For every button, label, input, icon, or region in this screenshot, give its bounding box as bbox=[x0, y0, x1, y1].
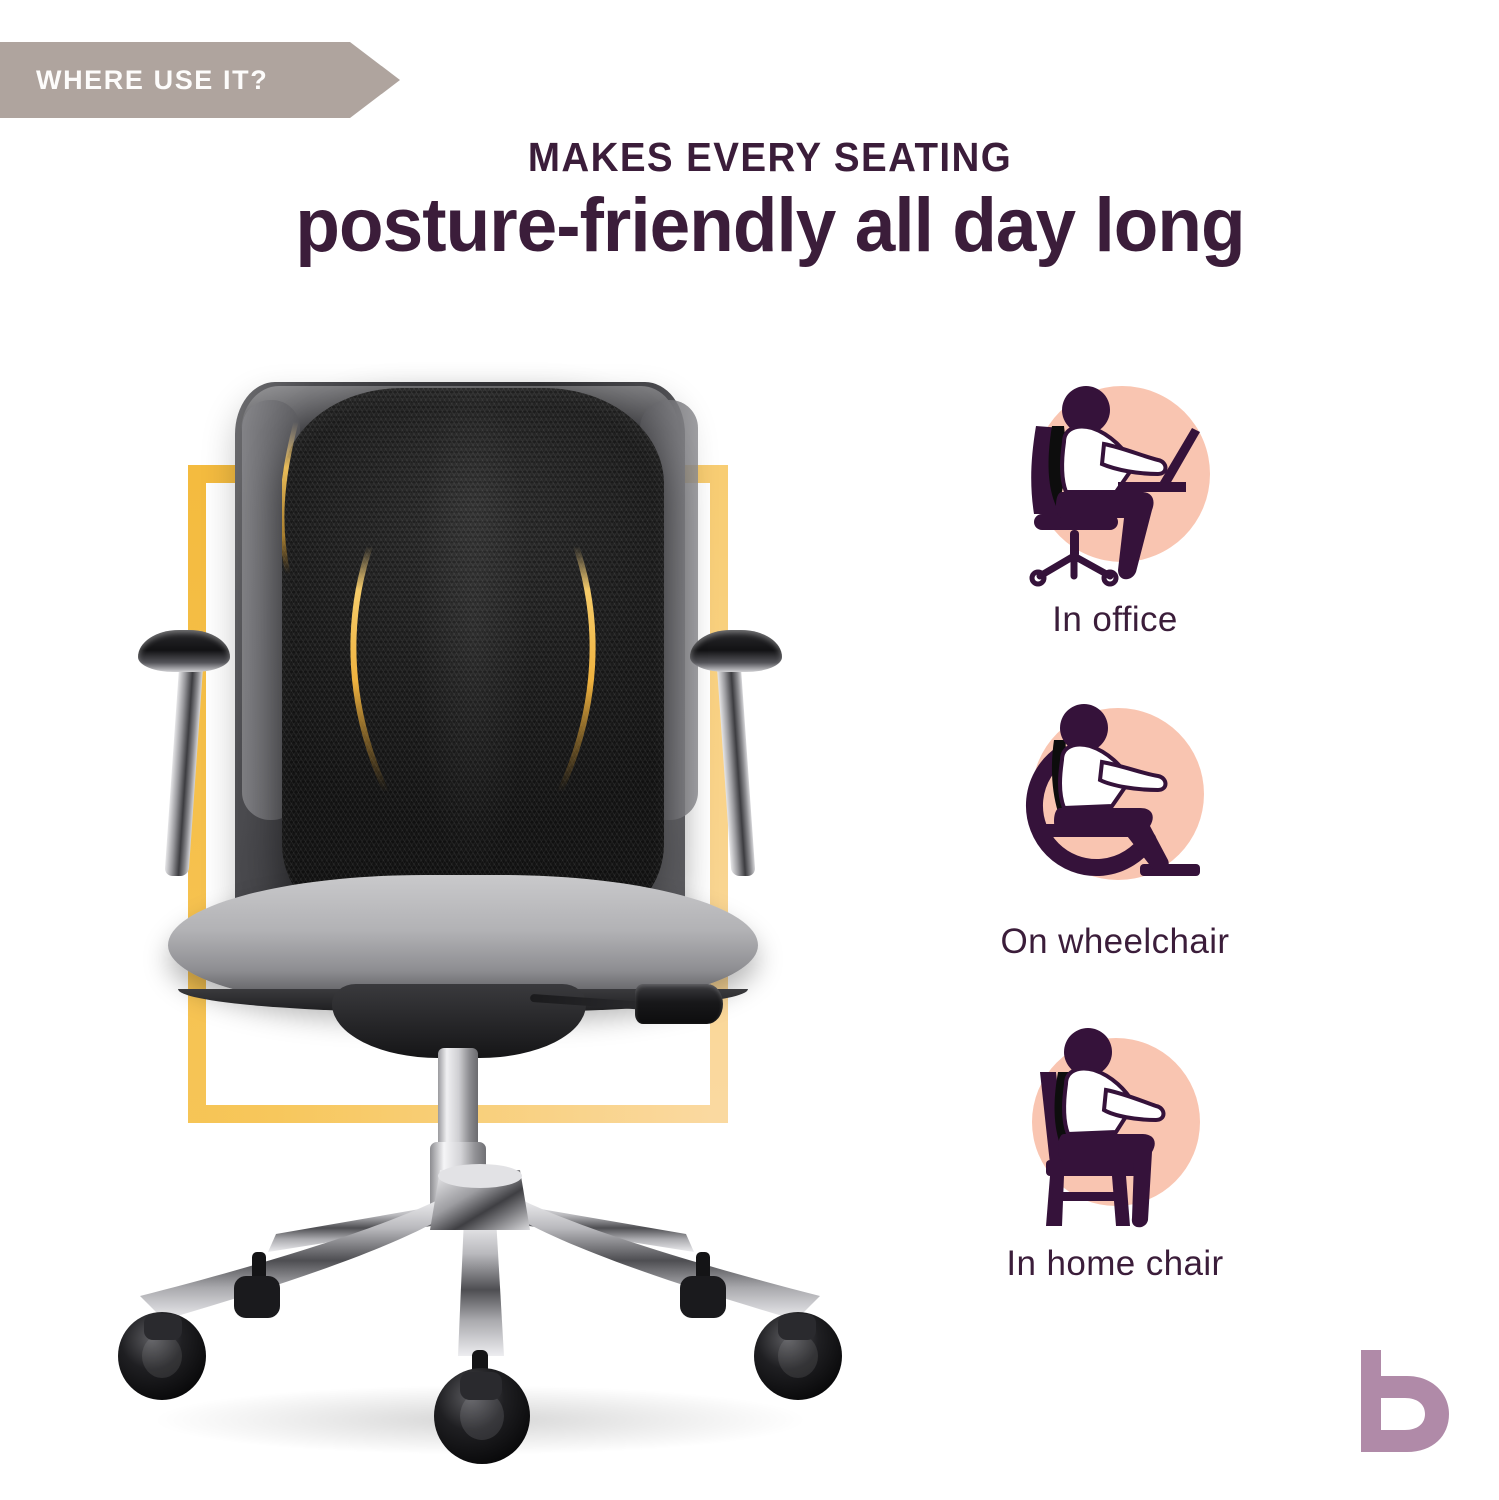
usecase-label-wheelchair: On wheelchair bbox=[1001, 922, 1230, 962]
product-image-stage bbox=[60, 330, 900, 1470]
ribbon-label: WHERE USE IT? bbox=[0, 65, 268, 96]
headline-kicker: MAKES EVERY SEATING bbox=[187, 136, 1353, 179]
usecase-item-office: In office bbox=[905, 370, 1325, 640]
armrest-post-left bbox=[164, 660, 203, 876]
armrest-post-right bbox=[716, 660, 755, 876]
armrest-pad-left bbox=[138, 630, 230, 672]
usecase-list: In office bbox=[905, 370, 1325, 1284]
usecase-item-wheelchair: On wheelchair bbox=[905, 692, 1325, 962]
office-chair-with-lumbar-cushion bbox=[60, 330, 900, 1470]
chair-five-star-base bbox=[100, 1160, 860, 1470]
armrest-pad-right bbox=[690, 630, 782, 672]
chair-armrest-right bbox=[716, 630, 756, 876]
person-at-desk-with-laptop-icon bbox=[1000, 370, 1230, 592]
person-on-dining-chair-icon bbox=[1000, 1014, 1230, 1236]
section-ribbon-tag: WHERE USE IT? bbox=[0, 42, 400, 118]
headline-main: posture-friendly all day long bbox=[175, 185, 1365, 267]
lumbar-support-cushion bbox=[282, 388, 664, 918]
usecase-label-home-chair: In home chair bbox=[1006, 1244, 1223, 1284]
usecase-label-office: In office bbox=[1052, 600, 1178, 640]
chair-armrest-left bbox=[164, 630, 204, 876]
usecase-item-home-chair: In home chair bbox=[905, 1014, 1325, 1284]
infographic-page: WHERE USE IT? MAKES EVERY SEATING postur… bbox=[0, 0, 1499, 1500]
brand-monogram-logo bbox=[1355, 1348, 1451, 1452]
height-adjust-lever-knob[interactable] bbox=[635, 984, 723, 1024]
person-in-wheelchair-icon bbox=[1000, 692, 1230, 914]
headline-block: MAKES EVERY SEATING posture-friendly all… bbox=[150, 136, 1390, 267]
